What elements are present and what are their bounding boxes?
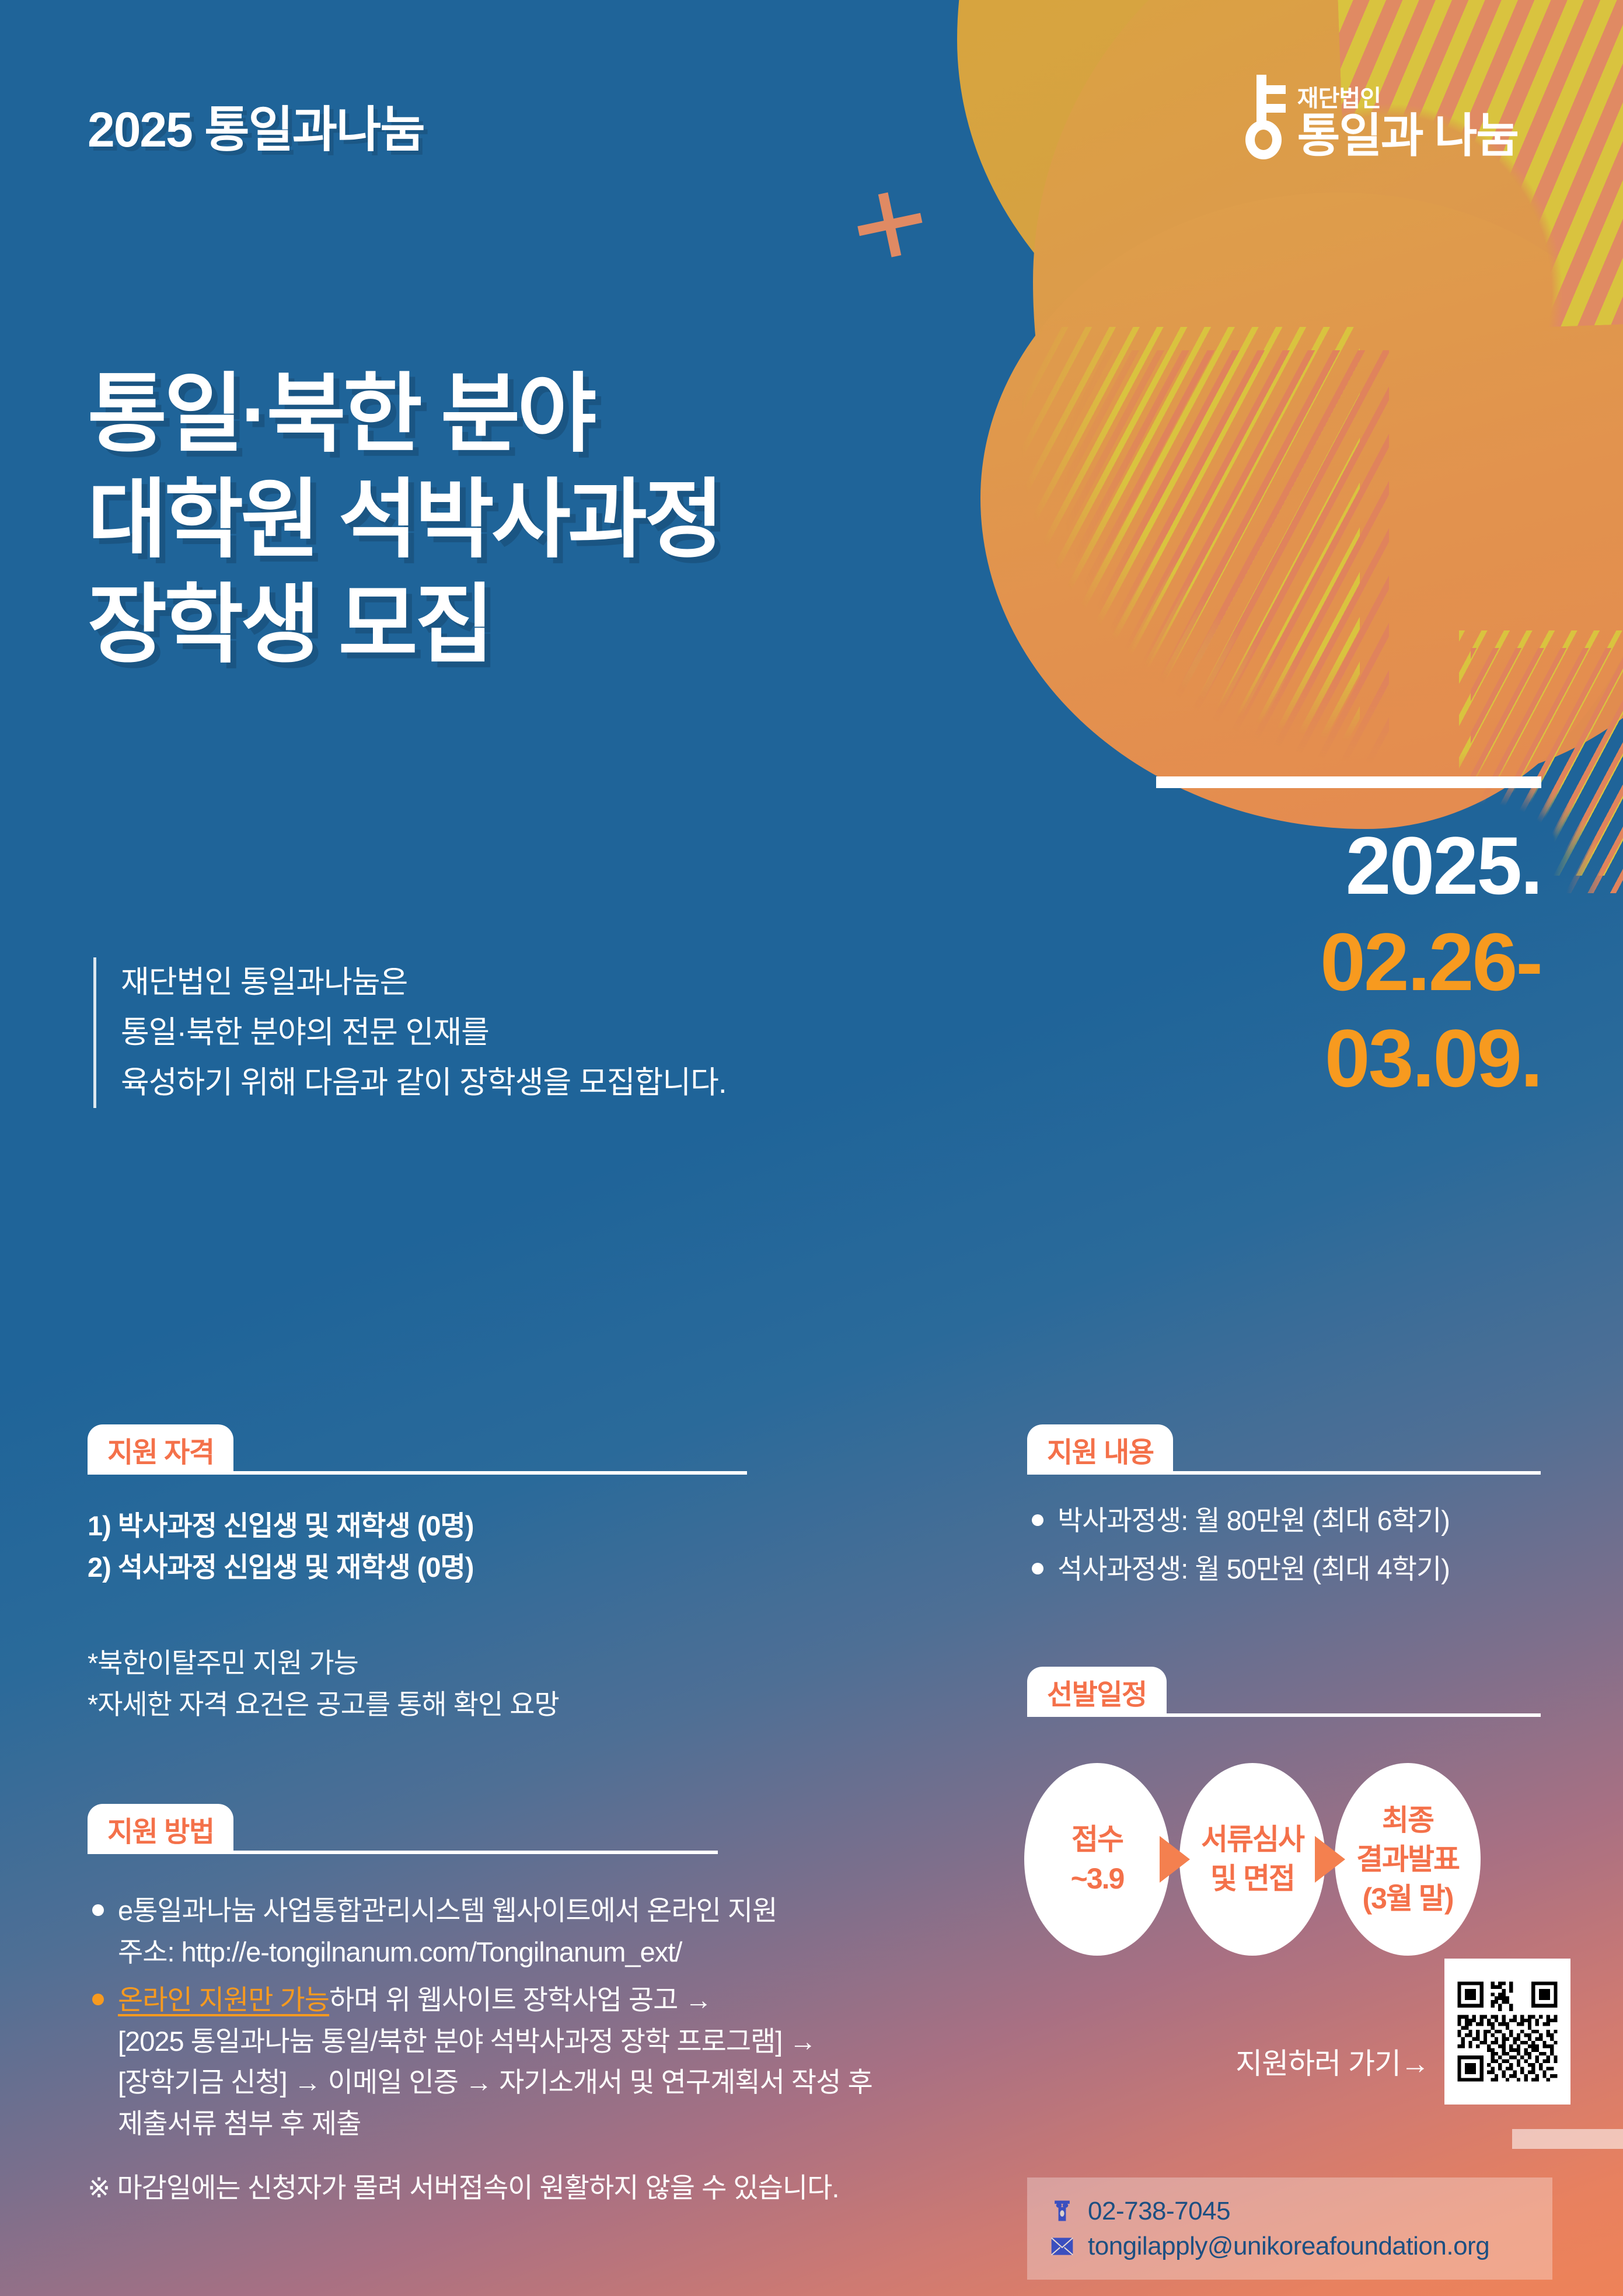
contact-phone-row[interactable]: 02-738-7045 — [1049, 2197, 1530, 2226]
apply-label: 지원하러 가기→ — [1235, 2040, 1429, 2105]
title-line-1: 통일·북한 분야 — [88, 362, 721, 468]
eligibility-note-1: *북한이탈주민 지원 가능 — [88, 1642, 747, 1684]
pipeline-step-3-line-3: (3월 말) — [1363, 1879, 1453, 1918]
support-item-2: 석사과정생: 월 50만원 (최대 4학기) — [1027, 1549, 1541, 1590]
eligibility-item-2: 2) 석사과정 신입생 및 재학생 (0명) — [88, 1546, 747, 1588]
pipeline-step-3-line-1: 최종 — [1382, 1801, 1433, 1840]
section-label-method: 지원 방법 — [88, 1804, 233, 1854]
method-highlight-rest: 하며 위 웹사이트 장학사업 공고 → — [329, 1984, 711, 2015]
eligibility-item-1: 1) 박사과정 신입생 및 재학생 (0명) — [88, 1505, 747, 1546]
intro-paragraph: 재단법인 통일과나눔은 통일·북한 분야의 전문 인재를 육성하기 위해 다음과… — [93, 957, 727, 1108]
title-line-3: 장학생 모집 — [88, 573, 721, 678]
application-period: 2025. 02.26- 03.09. — [1320, 817, 1541, 1107]
method-item-steps: 온라인 지원만 가능하며 위 웹사이트 장학사업 공고 → [2025 통일과나… — [88, 1980, 1033, 2144]
method-highlight: 온라인 지원만 가능 — [118, 1984, 329, 2015]
pipeline-step-2-line-2: 및 면접 — [1210, 1859, 1294, 1898]
plus-mark-icon — [852, 187, 928, 263]
diagonal-stripes-top-right — [1335, 0, 1623, 334]
logo-title: 통일과 나눔 — [1297, 113, 1518, 159]
pipeline-step-1-line-1: 접수 — [1071, 1820, 1123, 1859]
contact-email-row[interactable]: tongilapply@unikoreafoundation.org — [1049, 2232, 1530, 2261]
poster-canvas: 2025 통일과나눔 재단법인 통일과 나눔 통일·북한 분야 대학원 석박사과… — [0, 0, 1623, 2296]
qr-code[interactable] — [1444, 1959, 1570, 2105]
contact-box: 02-738-7045 tongilapply@unikoreafoundati… — [1027, 2177, 1552, 2280]
pipeline-step-2: 서류심사 및 면접 — [1179, 1763, 1325, 1956]
date-start: 02.26- — [1320, 914, 1541, 1010]
diagonal-stripes-coral-mid — [805, 350, 1389, 934]
pipeline-step-3: 최종 결과발표 (3월 말) — [1335, 1763, 1481, 1956]
pipeline-step-3-line-2: 결과발표 — [1356, 1840, 1459, 1879]
method-step-line-2: [2025 통일과나눔 통일/북한 분야 석박사과정 장학 프로그램] → — [118, 2021, 1033, 2062]
support-item-1: 박사과정생: 월 80만원 (최대 6학기) — [1027, 1500, 1541, 1542]
contact-phone: 02-738-7045 — [1088, 2197, 1230, 2226]
date-divider — [1156, 776, 1541, 788]
method-item-online: e통일과나눔 사업통합관리시스템 웹사이트에서 온라인 지원 주소: http:… — [88, 1890, 1033, 1973]
pipeline-step-1-line-2: ~3.9 — [1071, 1859, 1124, 1898]
logo-subtitle: 재단법인 — [1297, 87, 1518, 110]
date-year: 2025. — [1320, 817, 1541, 914]
intro-line-3: 육성하기 위해 다음과 같이 장학생을 모집합니다. — [121, 1058, 727, 1108]
title-line-2: 대학원 석박사과정 — [88, 468, 721, 573]
method-footnote: ※ 마감일에는 신청자가 몰려 서버접속이 원활하지 않을 수 있습니다. — [88, 2167, 1033, 2208]
white-accent-chip — [1512, 2129, 1623, 2149]
method-step-line-4: 제출서류 첨부 후 제출 — [118, 2103, 1033, 2145]
pipeline-arrow-1-icon — [1160, 1836, 1190, 1883]
support-list: 박사과정생: 월 80만원 (최대 6학기) 석사과정생: 월 50만원 (최대… — [1027, 1500, 1541, 1590]
date-end: 03.09. — [1320, 1010, 1541, 1106]
eligibility-note-2: *자세한 자격 요건은 공고를 통해 확인 요망 — [88, 1684, 747, 1725]
diagonal-stripes-yellow-mid — [776, 327, 1360, 911]
blob-shape-coral — [980, 193, 1623, 829]
intro-line-1: 재단법인 통일과나눔은 — [121, 957, 727, 1008]
method-item-online-line-1: e통일과나눔 사업통합관리시스템 웹사이트에서 온라인 지원 — [118, 1890, 1033, 1932]
section-label-support: 지원 내용 — [1027, 1424, 1173, 1475]
apply-cta[interactable]: 지원하러 가기→ — [1235, 1959, 1570, 2105]
page-title: 통일·북한 분야 대학원 석박사과정 장학생 모집 — [88, 362, 721, 678]
pipeline-step-1: 접수 ~3.9 — [1024, 1763, 1170, 1956]
pipeline-arrow-2-icon — [1315, 1836, 1345, 1883]
section-label-eligibility: 지원 자격 — [88, 1424, 233, 1475]
eligibility-list: 1) 박사과정 신입생 및 재학생 (0명) 2) 석사과정 신입생 및 재학생… — [88, 1505, 747, 1588]
foundation-logo: 재단법인 통일과 나눔 — [1242, 75, 1518, 159]
kicker-text: 2025 통일과나눔 — [88, 90, 424, 161]
eligibility-notes: *북한이탈주민 지원 가능 *자세한 자격 요건은 공고를 통해 확인 요망 — [88, 1642, 747, 1726]
telephone-icon — [1049, 2199, 1075, 2224]
section-eligibility: 지원 자격 1) 박사과정 신입생 및 재학생 (0명) 2) 석사과정 신입생… — [88, 1424, 747, 1726]
method-list: e통일과나눔 사업통합관리시스템 웹사이트에서 온라인 지원 주소: http:… — [88, 1890, 1033, 2151]
section-support: 지원 내용 박사과정생: 월 80만원 (최대 6학기) 석사과정생: 월 50… — [1027, 1424, 1541, 1597]
section-schedule: 선발일정 — [1027, 1667, 1541, 1717]
key-icon — [1242, 75, 1285, 159]
pipeline-step-2-line-1: 서류심사 — [1201, 1820, 1304, 1859]
blob-shape-yellow — [957, 0, 1623, 432]
section-method: 지원 방법 — [88, 1804, 718, 1854]
selection-pipeline: 접수 ~3.9 서류심사 및 면접 최종 결과발표 (3월 말) — [1024, 1763, 1481, 1956]
section-label-schedule: 선발일정 — [1027, 1667, 1167, 1717]
method-item-online-url[interactable]: 주소: http://e-tongilnanum.com/Tongilnanum… — [118, 1932, 1033, 1973]
envelope-icon — [1049, 2234, 1075, 2259]
intro-line-2: 통일·북한 분야의 전문 인재를 — [121, 1008, 727, 1058]
method-step-line-3: [장학기금 신청] → 이메일 인증 → 자기소개서 및 연구계획서 작성 후 — [118, 2062, 1033, 2103]
contact-email: tongilapply@unikoreafoundation.org — [1088, 2232, 1489, 2261]
